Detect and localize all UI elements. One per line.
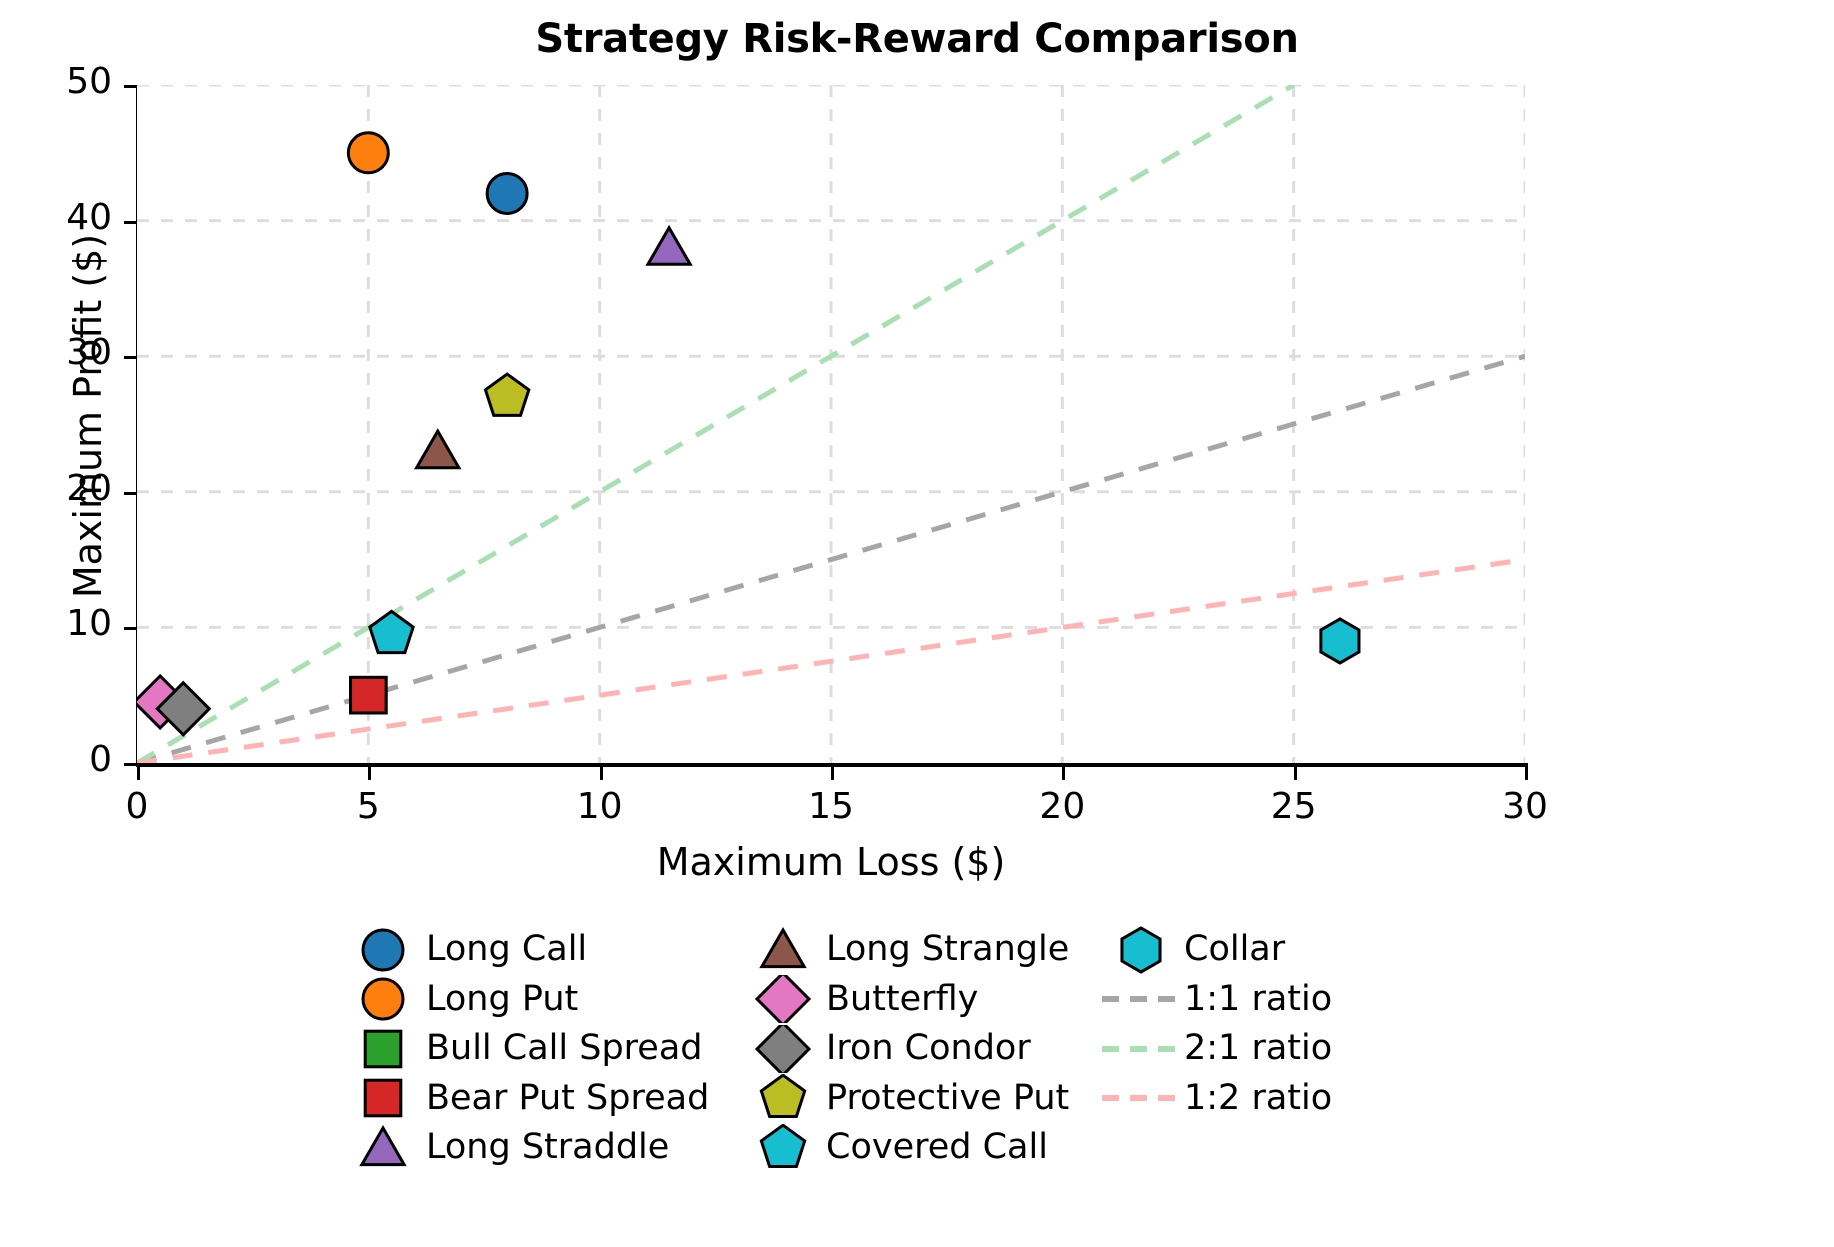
legend-label: Butterfly <box>826 982 978 1017</box>
chart-legend: Long CallLong PutBull Call SpreadBear Pu… <box>340 925 1460 1173</box>
data-markers <box>137 133 1359 735</box>
page-title: Strategy Risk-Reward Comparison <box>0 16 1834 62</box>
legend-item[interactable]: Butterfly <box>740 975 1098 1025</box>
legend-label: 2:1 ratio <box>1184 1031 1332 1066</box>
data-point <box>351 677 387 713</box>
legend-label: Collar <box>1184 932 1285 967</box>
legend-label: Long Put <box>426 982 578 1017</box>
plot-area <box>137 85 1525 763</box>
legend-item[interactable]: 1:2 ratio <box>1098 1074 1438 1124</box>
legend-label: 1:1 ratio <box>1184 982 1332 1017</box>
legend-swatch-dashedline-icon <box>1098 1024 1184 1073</box>
legend-column: Long StrangleButterflyIron CondorProtect… <box>740 925 1098 1173</box>
y-tick-mark <box>124 763 137 766</box>
legend-swatch-diamond-icon <box>740 1024 826 1073</box>
legend-item[interactable]: 1:1 ratio <box>1098 975 1438 1025</box>
legend-swatch-pentagon-icon <box>740 1074 826 1123</box>
legend-swatch-dashedline-icon <box>1098 975 1184 1024</box>
x-tick-label: 20 <box>1017 786 1107 827</box>
chart-page: Strategy Risk-Reward Comparison 05101520… <box>0 0 1834 1247</box>
x-tick-mark <box>831 767 834 780</box>
legend-item[interactable]: Collar <box>1098 925 1438 975</box>
legend-swatch-pentagon-icon <box>740 1123 826 1172</box>
x-tick-label: 10 <box>555 786 645 827</box>
x-tick-mark <box>1062 767 1065 780</box>
legend-item[interactable]: Long Call <box>340 925 740 975</box>
legend-swatch-diamond-icon <box>740 975 826 1024</box>
y-axis-label: Maximum Profit ($) <box>66 76 110 756</box>
legend-label: Long Strangle <box>826 932 1069 967</box>
y-tick-mark <box>124 85 137 88</box>
legend-swatch-circle-icon <box>340 975 426 1024</box>
legend-label: Long Straddle <box>426 1130 669 1165</box>
x-tick-label: 25 <box>1249 786 1339 827</box>
legend-label: 1:2 ratio <box>1184 1081 1332 1116</box>
data-point <box>487 173 527 213</box>
x-tick-mark <box>1294 767 1297 780</box>
legend-label: Covered Call <box>826 1130 1048 1165</box>
legend-swatch-hexagon-icon <box>1098 925 1184 974</box>
legend-label: Iron Condor <box>826 1031 1031 1066</box>
legend-label: Long Call <box>426 932 587 967</box>
legend-swatch-dashedline-icon <box>1098 1074 1184 1123</box>
x-tick-mark <box>137 767 140 780</box>
x-tick-label: 0 <box>92 786 182 827</box>
legend-item[interactable]: 2:1 ratio <box>1098 1024 1438 1074</box>
legend-swatch-circle-icon <box>340 925 426 974</box>
legend-item[interactable]: Long Put <box>340 975 740 1025</box>
legend-column: Collar1:1 ratio2:1 ratio1:2 ratio <box>1098 925 1438 1123</box>
legend-swatch-triangle-icon <box>740 925 826 974</box>
x-tick-label: 15 <box>786 786 876 827</box>
y-tick-mark <box>124 221 137 224</box>
legend-item[interactable]: Long Strangle <box>740 925 1098 975</box>
legend-item[interactable]: Iron Condor <box>740 1024 1098 1074</box>
y-tick-mark <box>124 356 137 359</box>
data-point <box>348 133 388 173</box>
y-tick-mark <box>124 492 137 495</box>
legend-swatch-square-icon <box>340 1074 426 1123</box>
x-tick-mark <box>600 767 603 780</box>
data-point <box>1321 619 1359 663</box>
legend-item[interactable]: Long Straddle <box>340 1123 740 1173</box>
data-point <box>648 228 690 265</box>
x-tick-label: 30 <box>1480 786 1570 827</box>
legend-column: Long CallLong PutBull Call SpreadBear Pu… <box>340 925 740 1173</box>
x-tick-label: 5 <box>323 786 413 827</box>
legend-label: Bear Put Spread <box>426 1081 709 1116</box>
legend-item[interactable]: Bear Put Spread <box>340 1074 740 1124</box>
legend-item[interactable]: Protective Put <box>740 1074 1098 1124</box>
scatter-plot-canvas <box>137 85 1525 763</box>
legend-swatch-square-icon <box>340 1024 426 1073</box>
data-point <box>370 611 413 652</box>
x-tick-mark <box>368 767 371 780</box>
data-point <box>485 374 528 415</box>
legend-item[interactable]: Covered Call <box>740 1123 1098 1173</box>
data-point <box>417 431 459 468</box>
x-tick-mark <box>1525 767 1528 780</box>
legend-item[interactable]: Bull Call Spread <box>340 1024 740 1074</box>
x-axis-label: Maximum Loss ($) <box>137 840 1525 884</box>
legend-label: Protective Put <box>826 1081 1069 1116</box>
y-tick-mark <box>124 627 137 630</box>
legend-swatch-triangle-icon <box>340 1123 426 1172</box>
legend-label: Bull Call Spread <box>426 1031 702 1066</box>
